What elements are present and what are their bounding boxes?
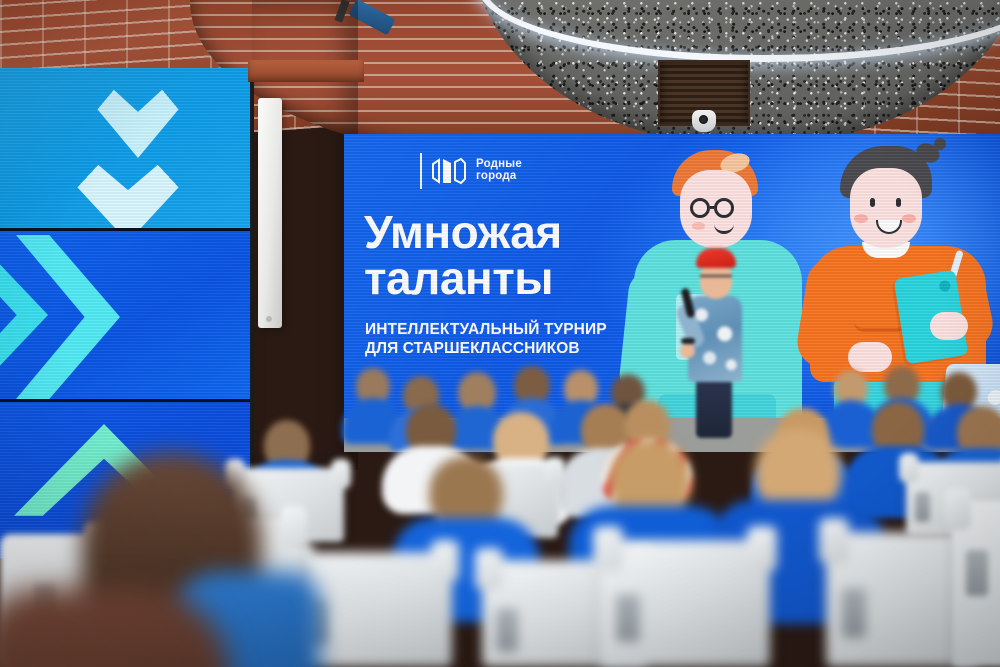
brand-line-2: города	[476, 171, 522, 183]
brand-logo-lockup: Родные города	[420, 153, 522, 189]
led-panel-top	[0, 68, 252, 228]
presenter-on-stage	[680, 248, 748, 438]
event-photo-scene: Родные города Умножая таланты ИНТЕЛЛЕКТУ…	[0, 0, 1000, 667]
open-book-gate-icon	[431, 157, 467, 185]
chevron-down-icon	[28, 134, 228, 228]
chair	[600, 540, 770, 667]
line-array-speaker	[258, 98, 282, 328]
pillar-cap	[248, 60, 364, 82]
brand-text: Родные города	[476, 159, 522, 182]
list-item	[350, 368, 396, 432]
brand-divider	[420, 153, 422, 189]
chair	[952, 500, 1000, 667]
led-panel-middle	[0, 231, 252, 399]
chevron-right-icon	[0, 249, 48, 381]
ptz-camera-icon	[692, 110, 716, 132]
